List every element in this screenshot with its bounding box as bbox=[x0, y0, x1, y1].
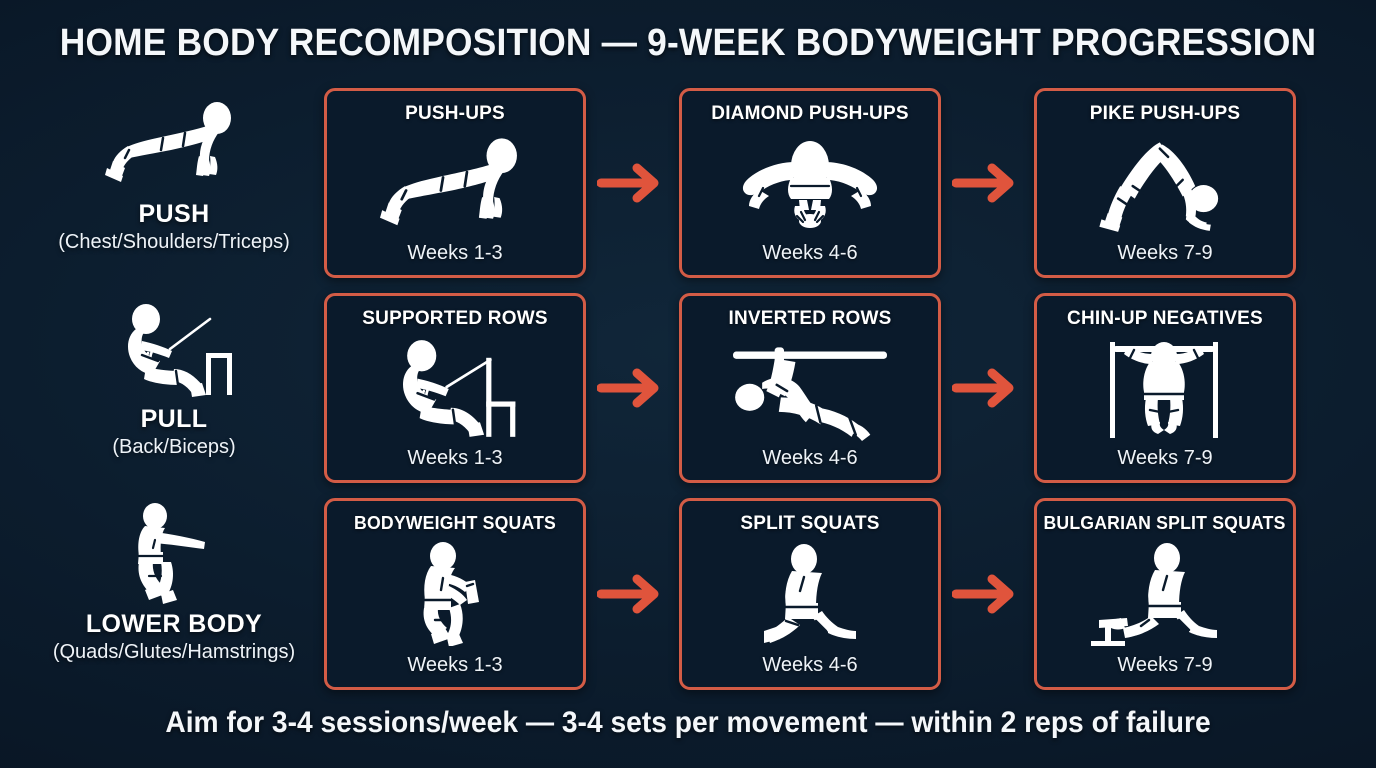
push-up-side-icon bbox=[327, 125, 583, 242]
footer-note: Aim for 3-4 sessions/week — 3-4 sets per… bbox=[41, 706, 1334, 740]
page-title: HOME BODY RECOMPOSITION — 9-WEEK BODYWEI… bbox=[48, 22, 1328, 65]
card-weeks: Weeks 4-6 bbox=[762, 447, 857, 470]
card-title: SUPPORTED ROWS bbox=[362, 308, 547, 330]
arrow-right-icon bbox=[597, 366, 665, 410]
row-label-lower-body: LOWER BODY (Quads/Glutes/Hamstrings) bbox=[30, 498, 318, 690]
diamond-push-up-front-icon bbox=[682, 125, 938, 242]
card-push-ups[interactable]: PUSH-UPS bbox=[324, 88, 586, 278]
row-pull: PULL (Back/Biceps) SUPPORTED ROWS bbox=[0, 293, 1376, 483]
squat-icon bbox=[327, 534, 583, 654]
inverted-row-icon bbox=[682, 330, 938, 447]
card-weeks: Weeks 7-9 bbox=[1117, 447, 1212, 470]
card-title: BULGARIAN SPLIT SQUATS bbox=[1044, 513, 1286, 534]
card-chin-up-negatives[interactable]: CHIN-UP NEGATIVES bbox=[1034, 293, 1296, 483]
supported-row-icon bbox=[327, 330, 583, 447]
card-weeks: Weeks 7-9 bbox=[1117, 654, 1212, 677]
card-weeks: Weeks 1-3 bbox=[407, 242, 502, 265]
card-diamond-push-ups[interactable]: DIAMOND PUSH-UPS bbox=[679, 88, 941, 278]
row-label-push: PUSH (Chest/Shoulders/Triceps) bbox=[30, 88, 318, 278]
pike-push-up-icon bbox=[1037, 125, 1293, 242]
supported-row-icon bbox=[112, 297, 236, 401]
arrow-right-icon bbox=[952, 572, 1020, 616]
arrow-right-icon bbox=[597, 161, 665, 205]
card-title: CHIN-UP NEGATIVES bbox=[1067, 308, 1263, 330]
bulgarian-split-squat-icon bbox=[1037, 534, 1293, 654]
card-weeks: Weeks 4-6 bbox=[762, 654, 857, 677]
push-up-side-icon bbox=[99, 92, 249, 196]
infographic-page: HOME BODY RECOMPOSITION — 9-WEEK BODYWEI… bbox=[0, 0, 1376, 768]
row-label-sub: (Chest/Shoulders/Triceps) bbox=[58, 231, 290, 254]
split-squat-icon bbox=[682, 535, 938, 654]
card-title: PUSH-UPS bbox=[405, 103, 505, 125]
card-title: SPLIT SQUATS bbox=[740, 513, 879, 535]
card-title: BODYWEIGHT SQUATS bbox=[354, 513, 556, 534]
card-weeks: Weeks 1-3 bbox=[407, 654, 502, 677]
row-label-title: PULL bbox=[141, 405, 208, 434]
card-title: DIAMOND PUSH-UPS bbox=[711, 103, 908, 125]
arrow-right-icon bbox=[952, 161, 1020, 205]
row-label-title: PUSH bbox=[138, 200, 209, 229]
card-inverted-rows[interactable]: INVERTED ROWS bbox=[679, 293, 941, 483]
card-pike-push-ups[interactable]: PIKE PUSH-UPS bbox=[1034, 88, 1296, 278]
card-title: PIKE PUSH-UPS bbox=[1090, 103, 1240, 125]
row-label-sub: (Back/Biceps) bbox=[112, 436, 235, 459]
card-weeks: Weeks 7-9 bbox=[1117, 242, 1212, 265]
card-split-squats[interactable]: SPLIT SQUATS bbox=[679, 498, 941, 690]
arrow-right-icon bbox=[597, 572, 665, 616]
row-label-title: LOWER BODY bbox=[86, 610, 262, 639]
card-weeks: Weeks 1-3 bbox=[407, 447, 502, 470]
card-bulgarian-split-squats[interactable]: BULGARIAN SPLIT SQUATS bbox=[1034, 498, 1296, 690]
row-push: PUSH (Chest/Shoulders/Triceps) PUSH-UPS bbox=[0, 88, 1376, 278]
row-label-sub: (Quads/Glutes/Hamstrings) bbox=[53, 641, 295, 664]
card-supported-rows[interactable]: SUPPORTED ROWS bbox=[324, 293, 586, 483]
row-label-pull: PULL (Back/Biceps) bbox=[30, 293, 318, 483]
squat-icon bbox=[119, 502, 229, 606]
card-title: INVERTED ROWS bbox=[728, 308, 891, 330]
arrow-right-icon bbox=[952, 366, 1020, 410]
row-lower-body: LOWER BODY (Quads/Glutes/Hamstrings) BOD… bbox=[0, 498, 1376, 690]
card-weeks: Weeks 4-6 bbox=[762, 242, 857, 265]
card-bodyweight-squats[interactable]: BODYWEIGHT SQUATS bbox=[324, 498, 586, 690]
chin-up-icon bbox=[1037, 330, 1293, 447]
